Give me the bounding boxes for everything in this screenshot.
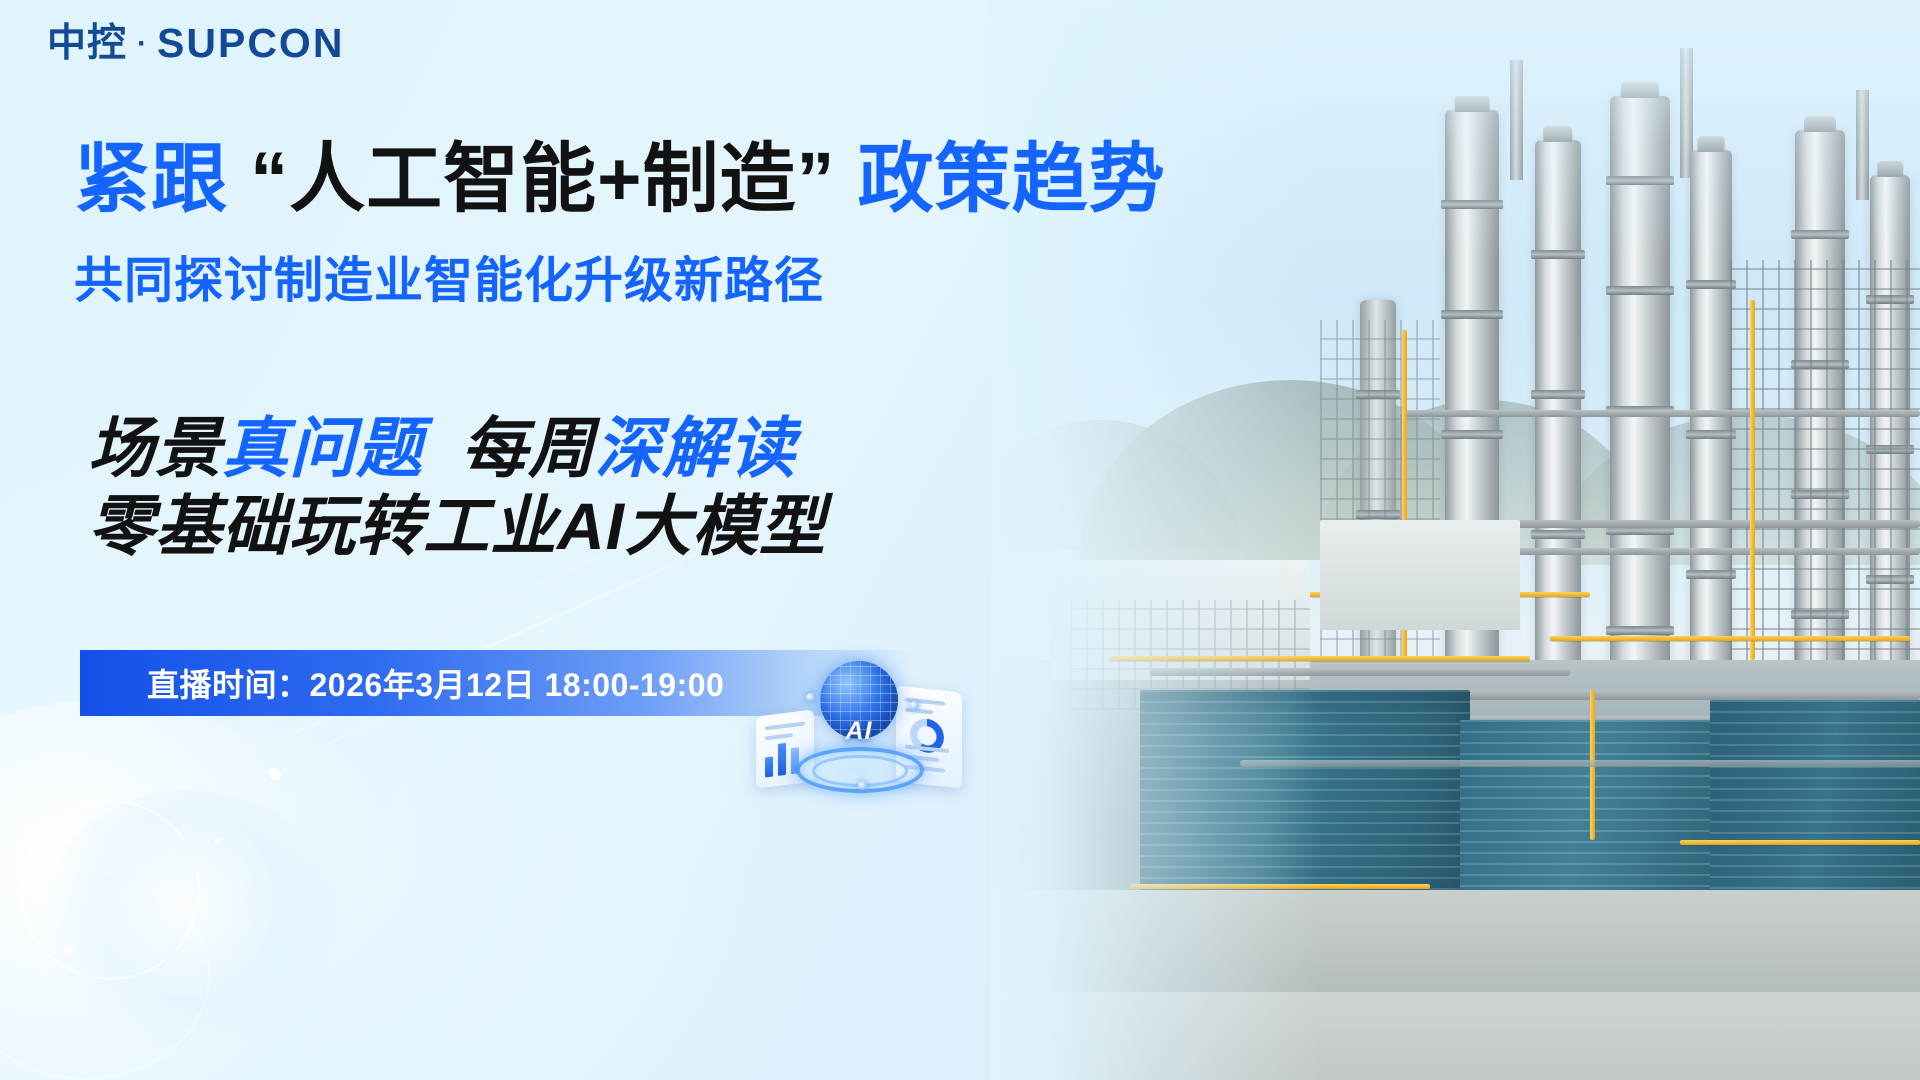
live-schedule-text: 直播时间：2026年3月12日 18:00-19:00 bbox=[80, 660, 724, 706]
handrail bbox=[1550, 636, 1910, 641]
headline-part-3: 政策趋势 bbox=[858, 137, 1166, 222]
orbit-dot-icon bbox=[806, 693, 815, 702]
logo-chinese-text: 中控 bbox=[47, 24, 127, 63]
supcon-logo: 中控 · SUPCON bbox=[47, 23, 344, 64]
decorative-ring bbox=[20, 800, 200, 980]
headline-part-1: 紧跟 bbox=[74, 137, 228, 222]
decorative-dot bbox=[269, 768, 281, 780]
decorative-ring bbox=[0, 870, 210, 1080]
slogan-line-2: 零基础玩转工业AI大模型 bbox=[88, 488, 1088, 566]
slogan-part-2: 真问题 bbox=[222, 411, 423, 485]
headline-block: 紧跟 “人工智能+制造” 政策趋势 共同探讨制造业智能化升级新路径 bbox=[74, 140, 1304, 312]
slogan-block: 场景真问题每周深解读 零基础玩转工业AI大模型 bbox=[88, 410, 1088, 566]
scaffolding-structure bbox=[1730, 260, 1920, 670]
promo-poster: 中控 · SUPCON 紧跟 “人工智能+制造” 政策趋势 共同探讨制造业智能化… bbox=[0, 0, 1920, 1080]
plant-building bbox=[1320, 520, 1520, 630]
decorative-dot bbox=[214, 838, 221, 845]
orbit-dot-icon bbox=[910, 701, 919, 710]
decorative-blob bbox=[0, 700, 360, 1080]
slogan-part-4: 深解读 bbox=[595, 411, 796, 485]
headline-part-2: “人工智能+制造” bbox=[250, 137, 835, 222]
slogan-part-3: 每周 bbox=[461, 411, 595, 485]
logo-english-text: SUPCON bbox=[157, 23, 344, 64]
handrail bbox=[1680, 840, 1920, 845]
ai-badge-label: AI bbox=[820, 717, 898, 746]
pipe-run bbox=[1400, 410, 1920, 417]
slogan-part-1: 场景 bbox=[88, 411, 222, 485]
headline-secondary: 共同探讨制造业智能化升级新路径 bbox=[74, 241, 1304, 312]
decorative-dot bbox=[64, 946, 73, 955]
pipe-run bbox=[1240, 760, 1920, 767]
orbit-dot-icon bbox=[858, 781, 867, 790]
slogan-line-1: 场景真问题每周深解读 bbox=[88, 410, 1088, 488]
handrail-vertical bbox=[1750, 300, 1755, 660]
process-module bbox=[1710, 700, 1920, 900]
ai-illustration: AI bbox=[750, 655, 970, 820]
logo-separator-dot: · bbox=[136, 29, 148, 59]
headline-primary: 紧跟 “人工智能+制造” 政策趋势 bbox=[74, 140, 1304, 219]
process-module bbox=[1460, 720, 1730, 900]
decorative-blob bbox=[40, 790, 340, 1050]
